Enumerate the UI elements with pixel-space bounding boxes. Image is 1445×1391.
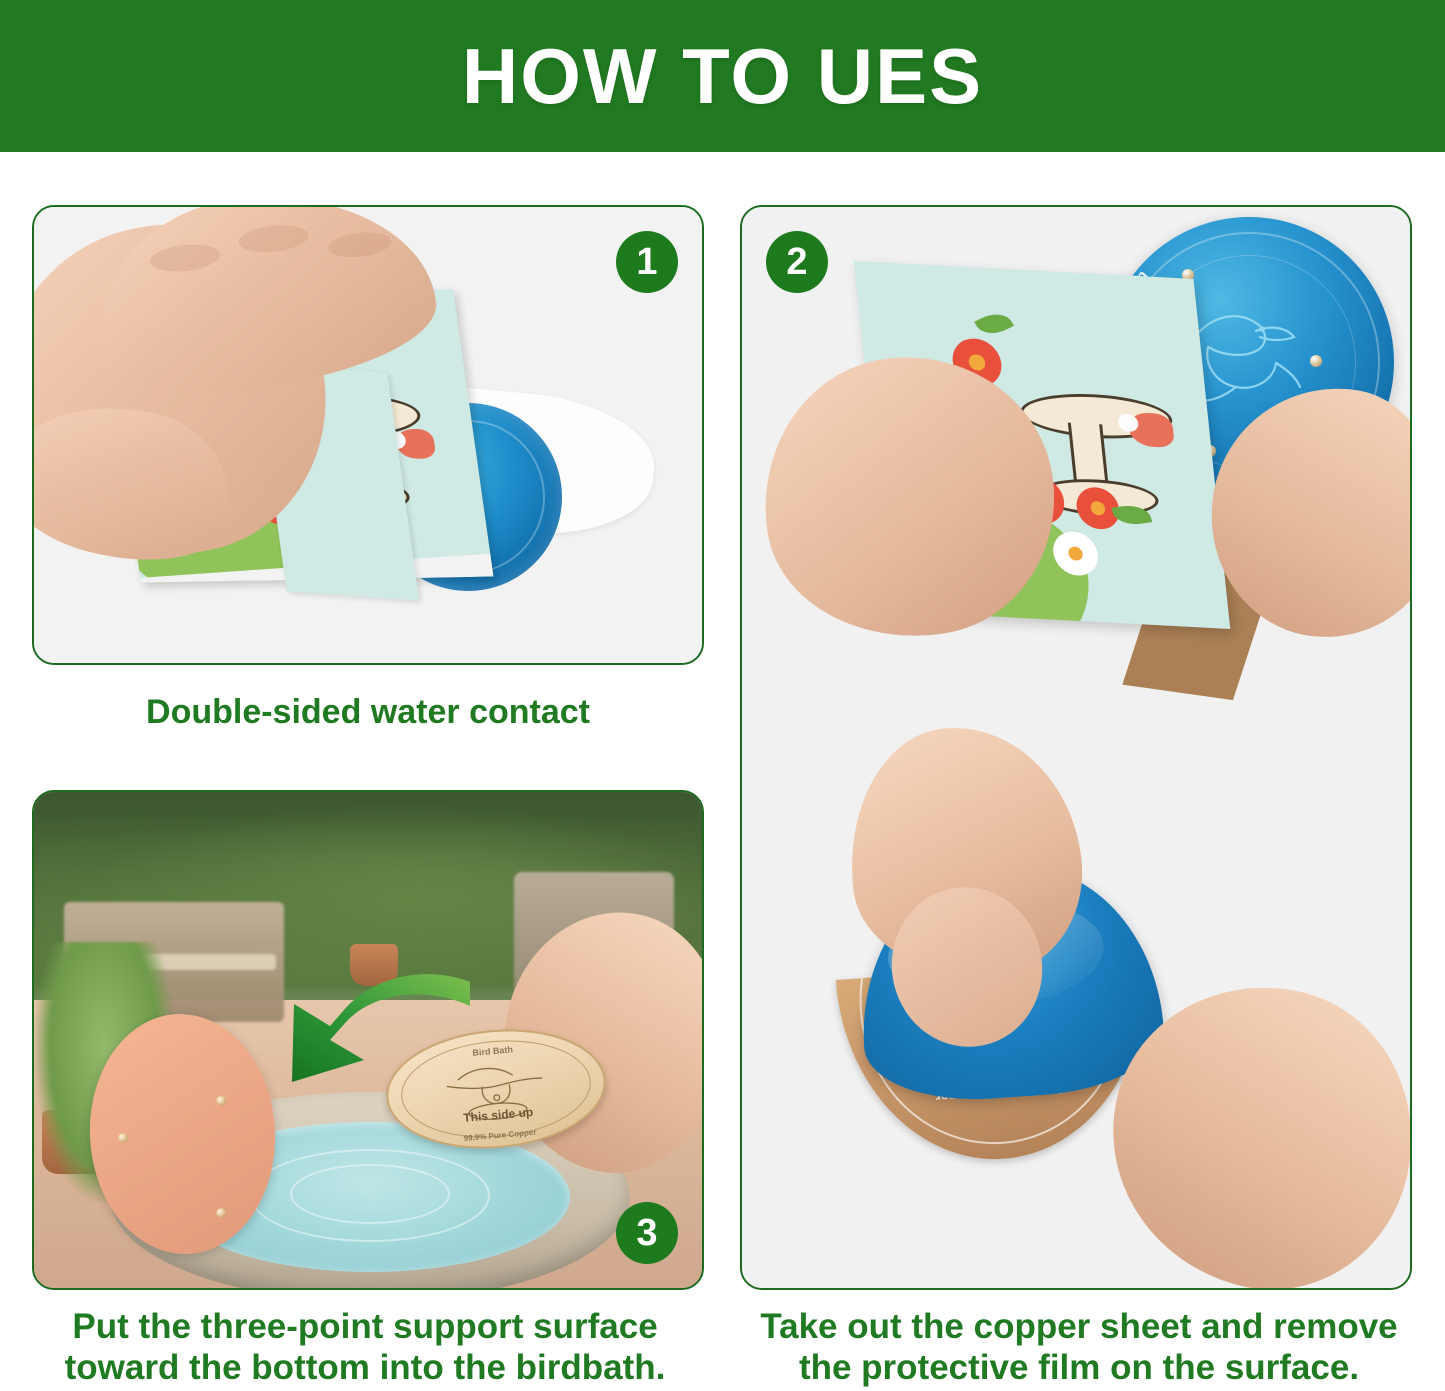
copper-disk-engraved-side: Bird Bath This side up 99.9% Pure Copper — [381, 1021, 610, 1158]
step-2-photo-upper: Bird Bath Purification Disk 99.9% Pure C… — [742, 207, 1410, 727]
step-3-photo: Bird Bath This side up 99.9% Pure Copper — [34, 792, 702, 1288]
step-1-badge: 1 — [616, 231, 678, 293]
step-3-panel: Bird Bath This side up 99.9% Pure Copper… — [32, 790, 704, 1290]
step-2-badge: 2 — [766, 231, 828, 293]
illustration-bird — [394, 429, 436, 459]
step-2-caption-line-2: the protective film on the surface. — [726, 1347, 1432, 1388]
step-2-caption-line-1: Take out the copper sheet and remove — [726, 1306, 1432, 1347]
step-3-caption: Put the three-point support surface towa… — [10, 1306, 720, 1389]
page-title: HOW TO UES — [462, 31, 983, 122]
step-1-photo — [34, 207, 702, 663]
step-3-badge: 3 — [616, 1202, 678, 1264]
step-3-caption-line-2: toward the bottom into the birdbath. — [10, 1347, 720, 1388]
step-2-panel: Bird Bath Purification Disk 99.9% Pure C… — [740, 205, 1412, 1290]
step-2-photo-lower: Bird Bath Purification Disk 99.9% Pure C… — [742, 737, 1410, 1290]
step-3-caption-line-1: Put the three-point support surface — [10, 1306, 720, 1347]
step-2-caption: Take out the copper sheet and remove the… — [726, 1306, 1432, 1389]
header-banner: HOW TO UES — [0, 0, 1445, 152]
step-1-caption: Double-sided water contact — [32, 692, 704, 732]
illustration-leaf-4 — [974, 308, 1014, 340]
step-1-panel: 1 — [32, 205, 704, 665]
